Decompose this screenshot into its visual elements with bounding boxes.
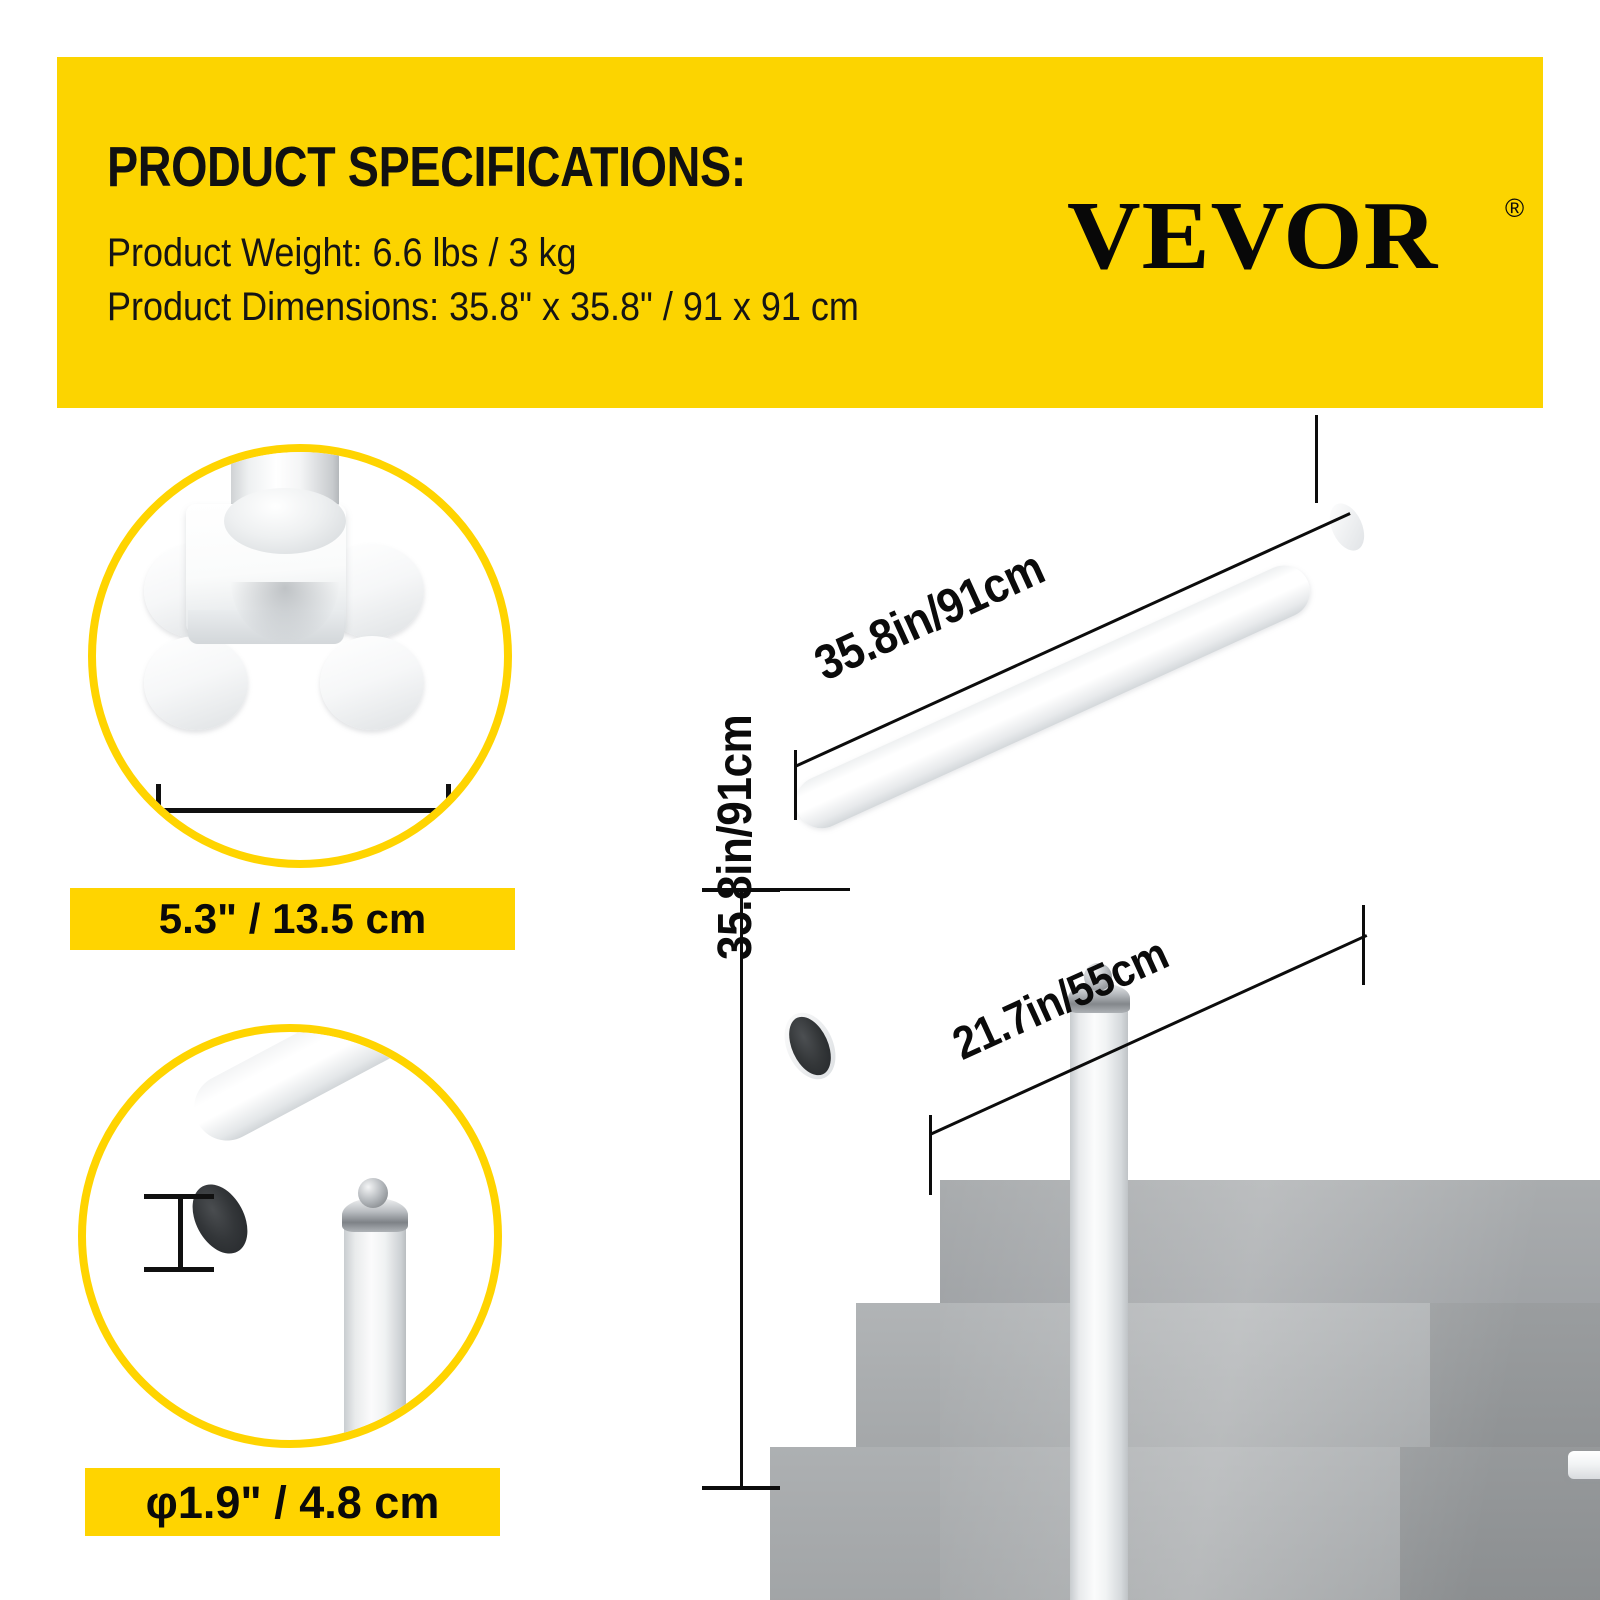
tube-diameter-illustration	[86, 1032, 494, 1440]
dimension-tick-spacing-start	[929, 1115, 932, 1195]
handrail-tube	[787, 557, 1318, 837]
support-post-shape	[344, 1220, 406, 1448]
stair-step-middle	[856, 1303, 1496, 1453]
handrail-top-cap	[1323, 498, 1371, 556]
page-title: PRODUCT SPECIFICATIONS:	[107, 139, 746, 196]
label-tube-diameter: φ1.9" / 4.8 cm	[85, 1468, 500, 1536]
spec-product-dimensions: Product Dimensions: 35.8" x 35.8" / 91 x…	[107, 287, 859, 327]
registered-trademark-icon: ®	[1505, 195, 1524, 221]
measure-cap-bottom	[144, 1267, 214, 1272]
support-post-left	[1070, 1005, 1128, 1600]
dimension-line-total-height	[740, 890, 743, 1490]
handrail-tube-shape	[183, 1024, 502, 1152]
measure-tick-right	[446, 784, 451, 838]
measure-line	[178, 1196, 183, 1270]
vevor-logo: VEVOR ®	[1067, 187, 1567, 307]
stair-step-top	[940, 1180, 1600, 1310]
joint-knuckle	[358, 1178, 388, 1208]
brand-wordmark: VEVOR	[1067, 187, 1438, 285]
dimension-label-total-height: 35.8in/91cm	[712, 715, 760, 960]
spec-product-weight: Product Weight: 6.6 lbs / 3 kg	[107, 233, 577, 273]
base-plate-illustration	[96, 452, 504, 860]
flange-lobe-bottom-left	[144, 636, 248, 730]
base-plate-measure-bar	[154, 782, 454, 838]
dimension-tick-rail-start	[794, 750, 797, 820]
stair-step-middle-right	[1430, 1303, 1600, 1453]
flange-lobe-bottom-right	[320, 636, 424, 730]
detail-circle-tube-diameter	[78, 1024, 502, 1448]
dimension-tick-spacing-end	[1362, 905, 1365, 985]
measure-line	[158, 808, 450, 813]
post-collar-shape	[224, 488, 346, 554]
label-base-plate-width: 5.3" / 13.5 cm	[70, 888, 515, 950]
detail-circle-base-plate	[88, 444, 512, 868]
base-flange-right	[1568, 1451, 1600, 1479]
dimension-label-post-spacing: 21.7in/55cm	[946, 930, 1174, 1067]
tube-diameter-measure-bar	[144, 1194, 216, 1272]
specifications-banner: PRODUCT SPECIFICATIONS: Product Weight: …	[57, 57, 1543, 408]
dimension-cap-bottom	[702, 1486, 780, 1490]
dimension-tick-rail-end	[1315, 415, 1318, 503]
main-product-illustration: 35.8in/91cm 21.7in/55cm 35.8in/91cm	[640, 415, 1600, 1600]
